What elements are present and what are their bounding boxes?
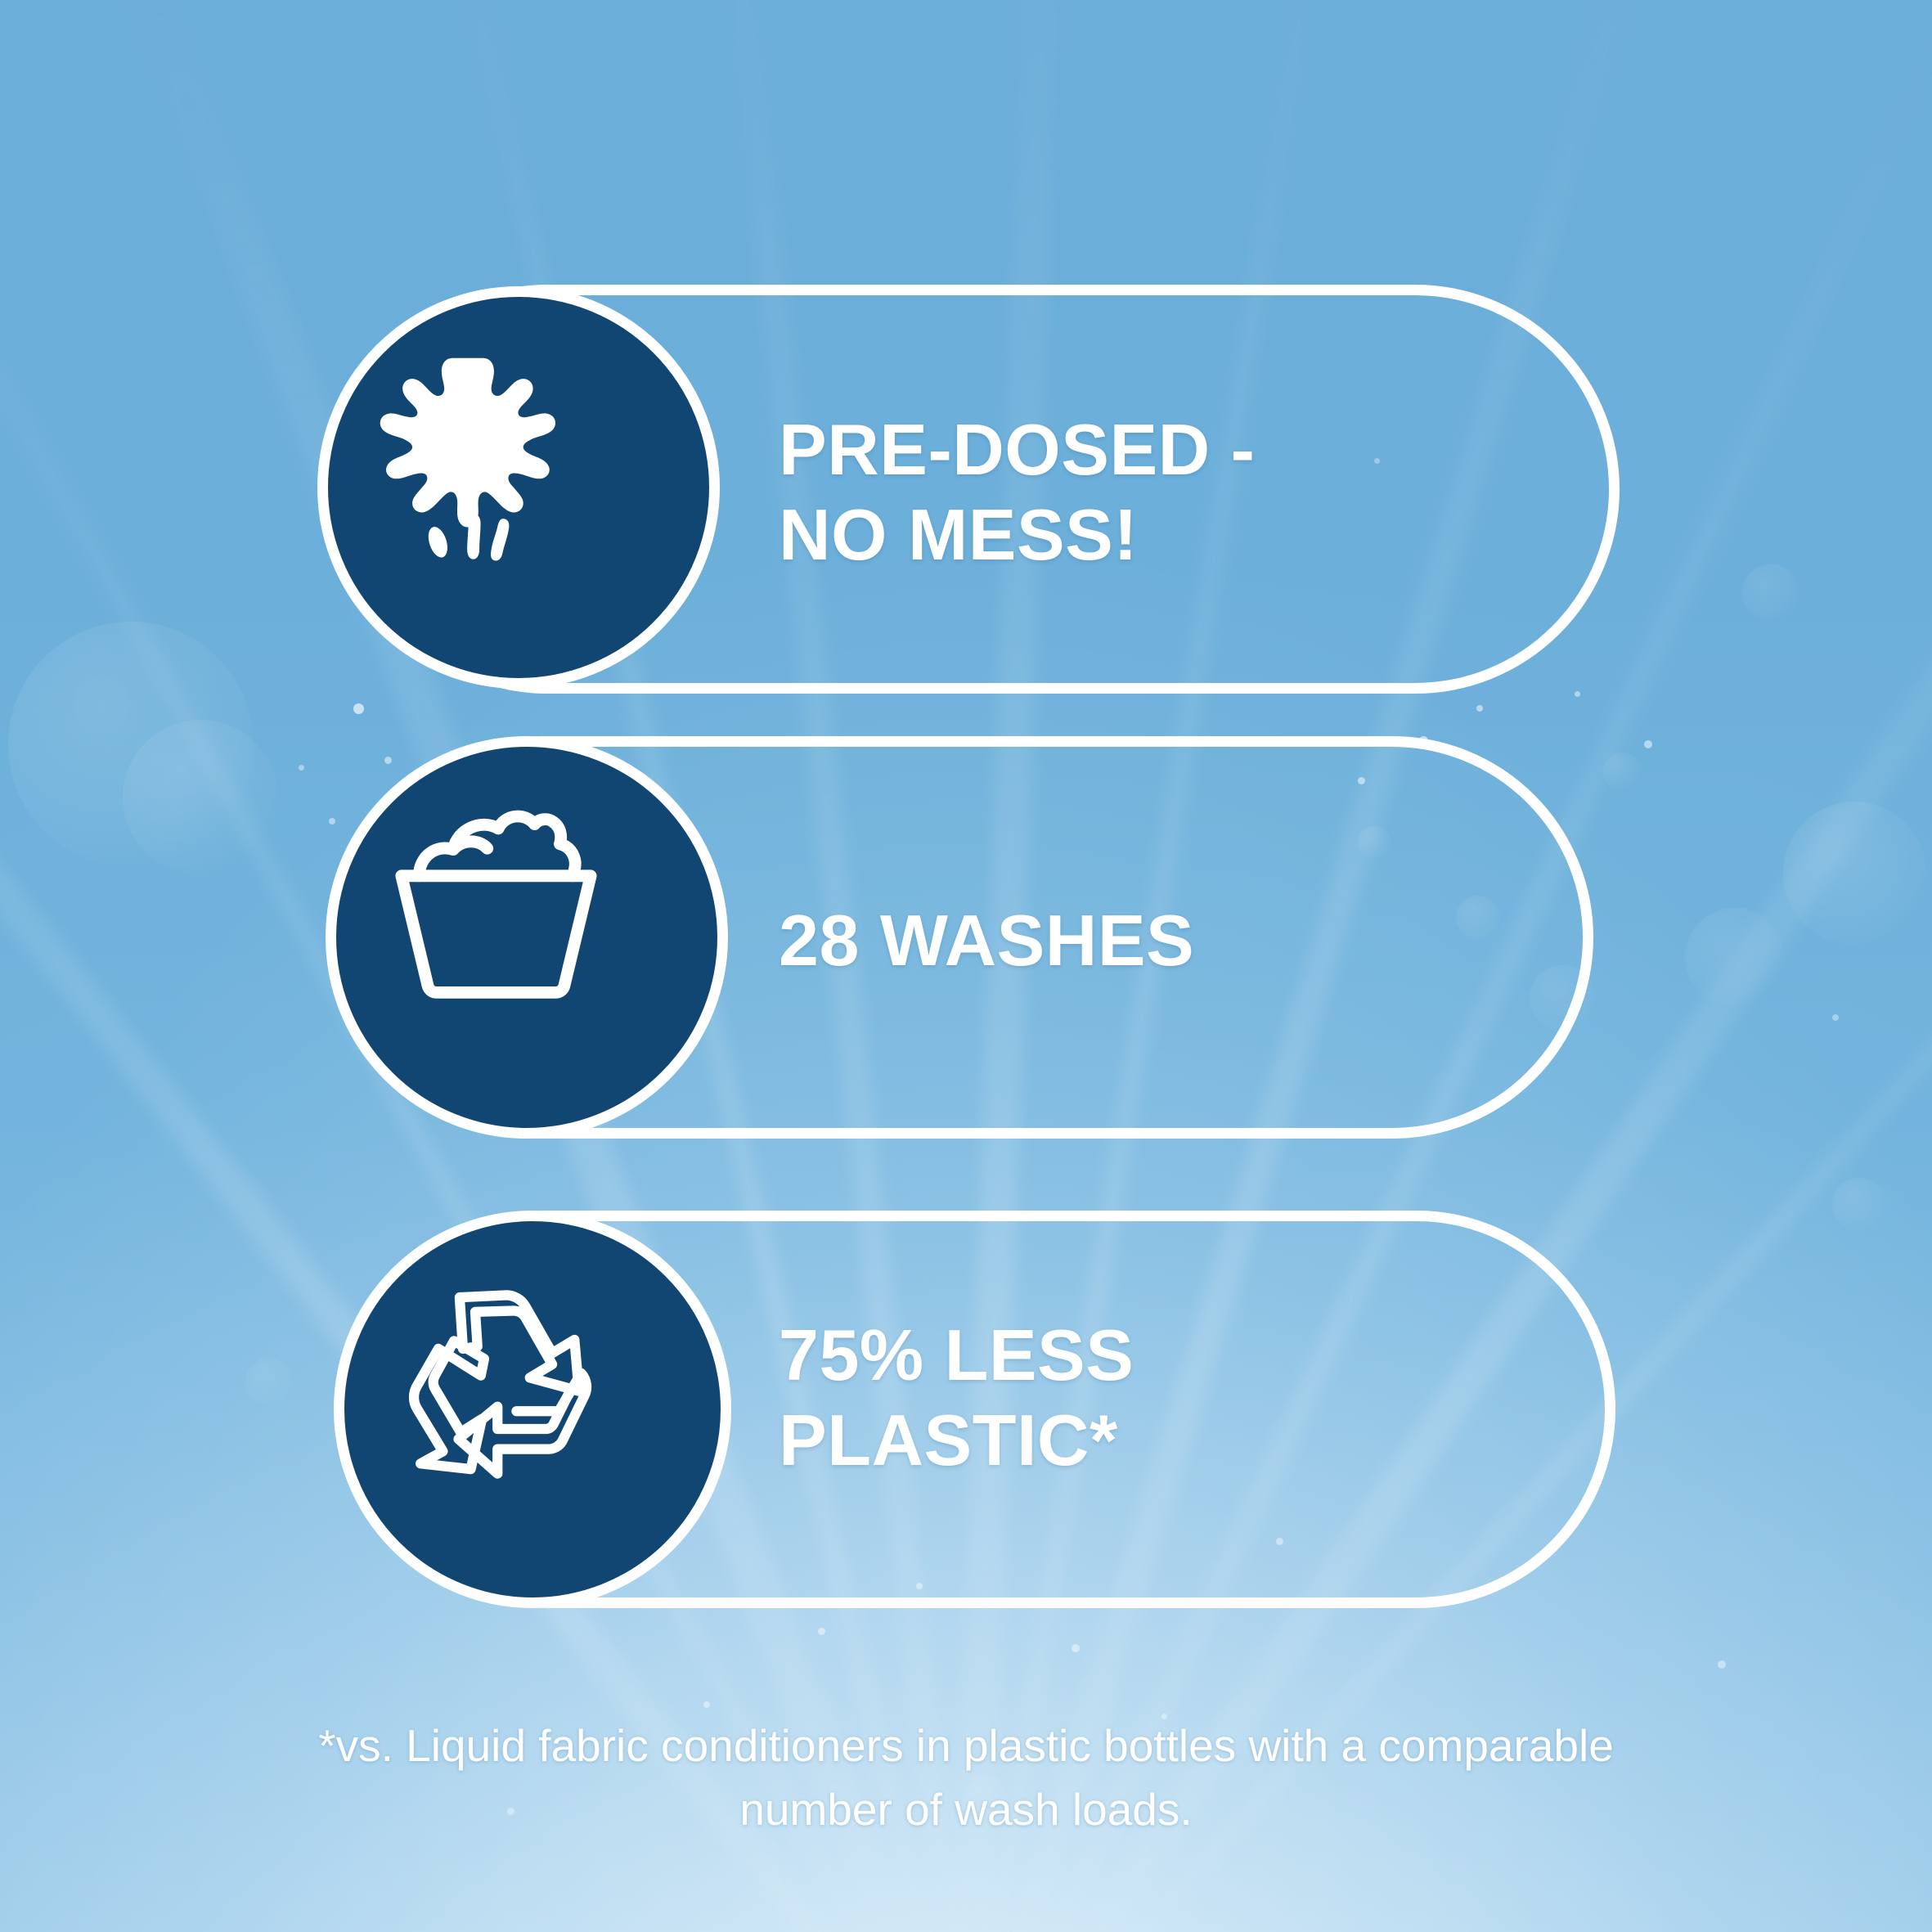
recycling-icon-badge — [334, 1211, 731, 1608]
feature-label: PRE-DOSED - NO MESS! — [779, 407, 1580, 577]
laundry-basket-icon — [386, 797, 668, 1079]
footnote-text: *vs. Liquid fabric conditioners in plast… — [124, 1714, 1808, 1841]
paint-splash-icon-badge — [317, 286, 720, 689]
infographic-canvas: PRE-DOSED - NO MESS! 28 WASHES — [0, 0, 1932, 1932]
feature-label: 75% LESS PLASTIC* — [779, 1313, 1580, 1483]
paint-splash-icon — [362, 331, 675, 644]
recycling-icon — [389, 1266, 676, 1552]
feature-list: PRE-DOSED - NO MESS! 28 WASHES — [0, 0, 1932, 1932]
feature-label: 28 WASHES — [779, 898, 1580, 983]
laundry-basket-icon-badge — [326, 736, 728, 1139]
